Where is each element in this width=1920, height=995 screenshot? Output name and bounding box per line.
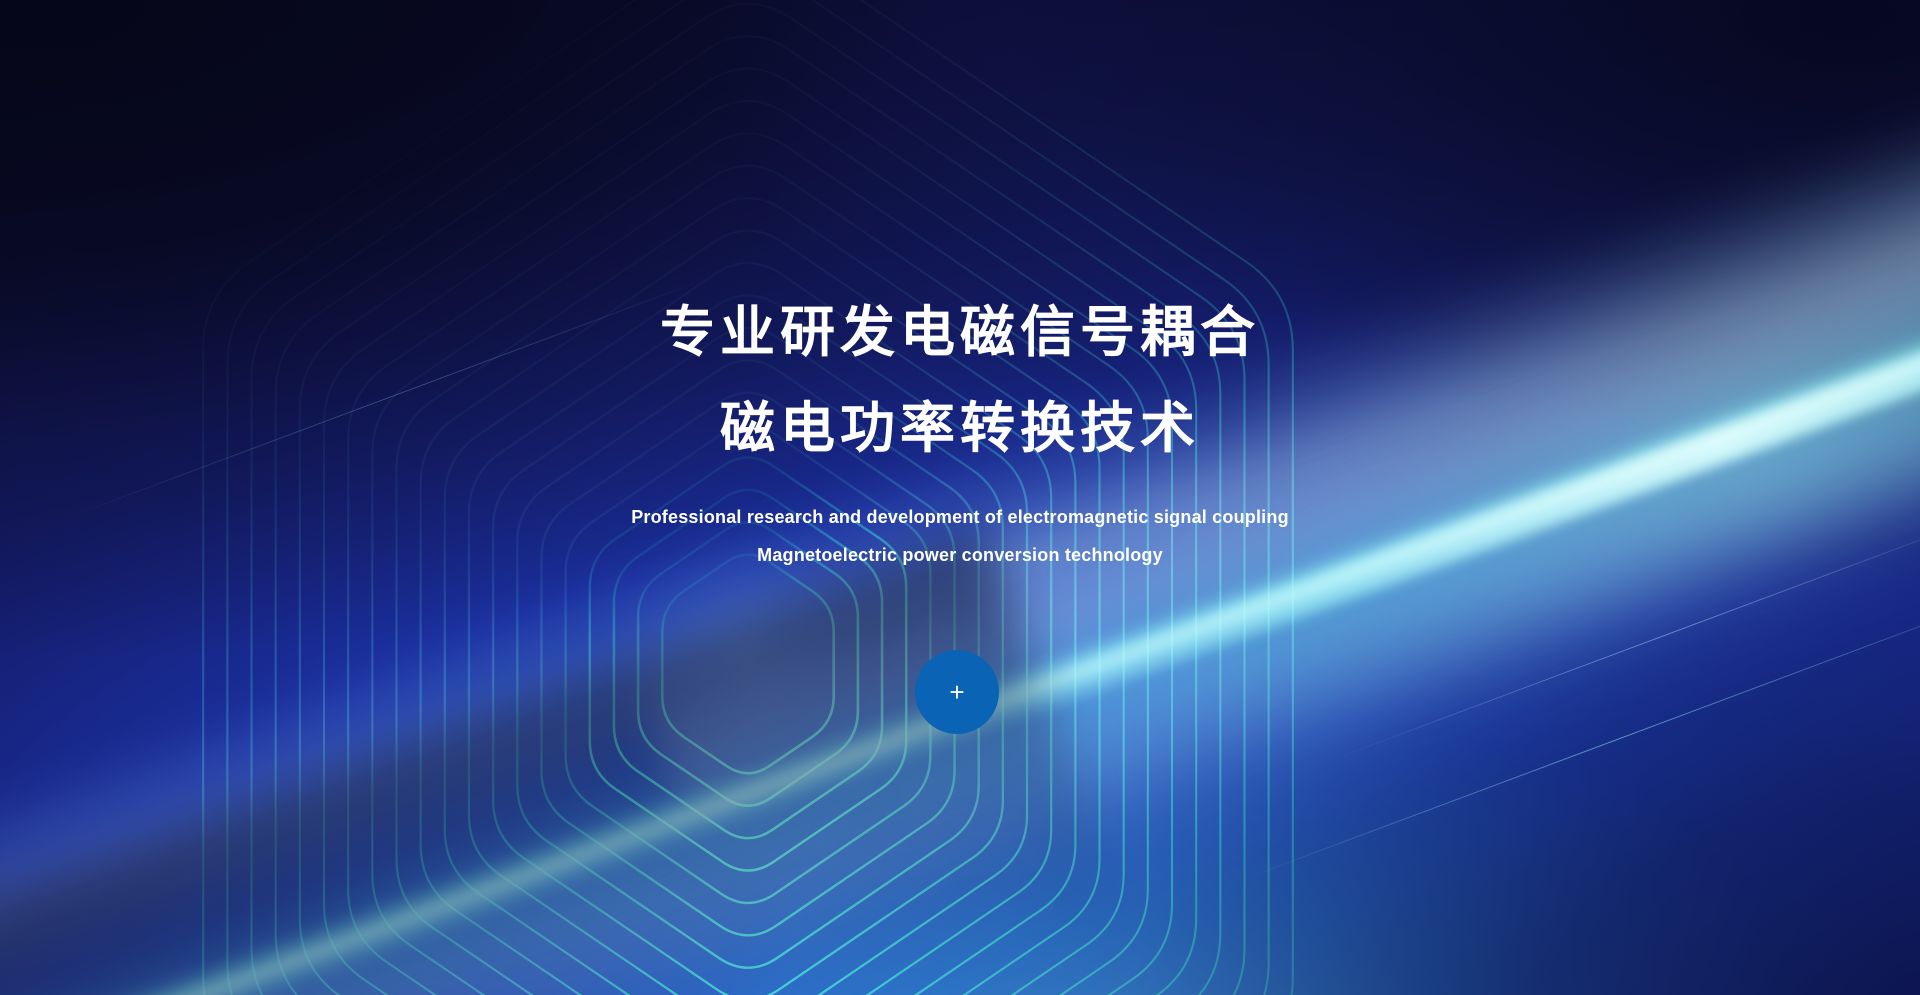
hero-copy-block: 专业研发电磁信号耦合 磁电功率转换技术 Professional researc… bbox=[0, 284, 1920, 574]
hero-subtitle-line-1: Professional research and development of… bbox=[0, 498, 1920, 536]
add-expand-button[interactable]: + bbox=[915, 650, 999, 734]
hero-subtitle-block: Professional research and development of… bbox=[0, 498, 1920, 574]
hero-banner: 专业研发电磁信号耦合 磁电功率转换技术 Professional researc… bbox=[0, 0, 1920, 995]
hero-title-line-2: 磁电功率转换技术 bbox=[0, 380, 1920, 476]
plus-icon: + bbox=[915, 650, 999, 734]
hero-subtitle-line-2: Magnetoelectric power conversion technol… bbox=[0, 536, 1920, 574]
hero-title-line-1: 专业研发电磁信号耦合 bbox=[0, 284, 1920, 380]
